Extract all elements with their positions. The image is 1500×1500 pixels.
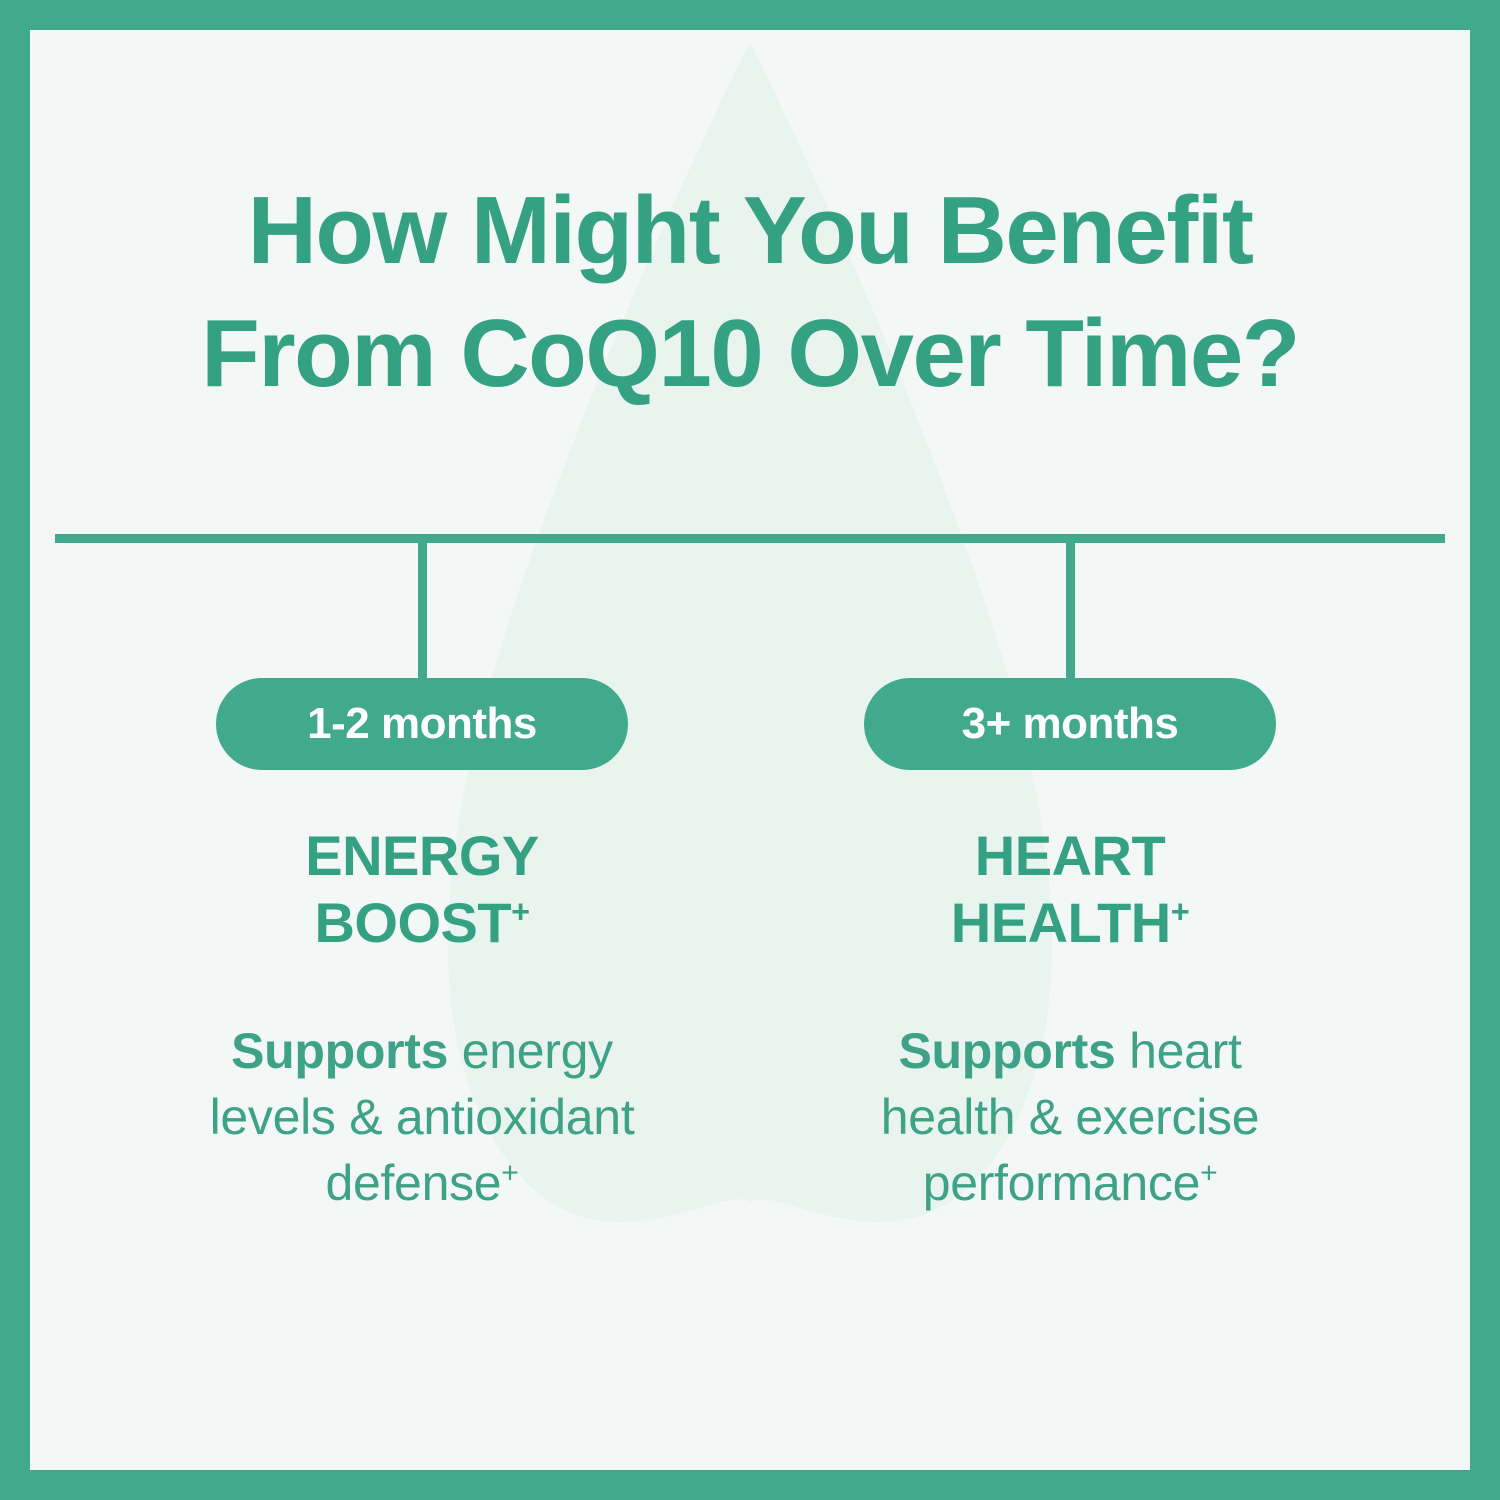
benefit-heading-line-1: HEART [975,824,1165,887]
benefit-description-energy-boost: Supports energy levels & antioxidant def… [202,1018,642,1216]
benefit-description-superscript: + [501,1157,518,1190]
benefit-heading-line-2: BOOST [314,891,511,954]
benefit-heading-energy-boost: ENERGY BOOST+ [202,822,642,956]
benefit-heading-superscript: + [511,894,529,930]
timeline-branch-energy-boost: 1-2 months ENERGY BOOST+ Supports energy… [202,678,642,1216]
timeline-branch-heart-health: 3+ months HEART HEALTH+ Supports heart h… [850,678,1290,1216]
inner-card: How Might You Benefit From CoQ10 Over Ti… [30,30,1470,1470]
timeline-branches: 1-2 months ENERGY BOOST+ Supports energy… [30,30,1470,1470]
duration-badge-3-plus-months[interactable]: 3+ months [864,678,1276,770]
benefit-heading-heart-health: HEART HEALTH+ [850,822,1290,956]
infographic-canvas: How Might You Benefit From CoQ10 Over Ti… [0,0,1500,1500]
benefit-heading-superscript: + [1171,894,1189,930]
benefit-description-heart-health: Supports heart health & exercise perform… [850,1018,1290,1216]
benefit-heading-line-1: ENERGY [305,824,539,887]
benefit-heading-line-2: HEALTH [951,891,1171,954]
duration-badge-1-2-months[interactable]: 1-2 months [216,678,628,770]
benefit-description-lead: Supports [898,1023,1115,1079]
benefit-description-superscript: + [1200,1157,1217,1190]
benefit-description-lead: Supports [231,1023,448,1079]
